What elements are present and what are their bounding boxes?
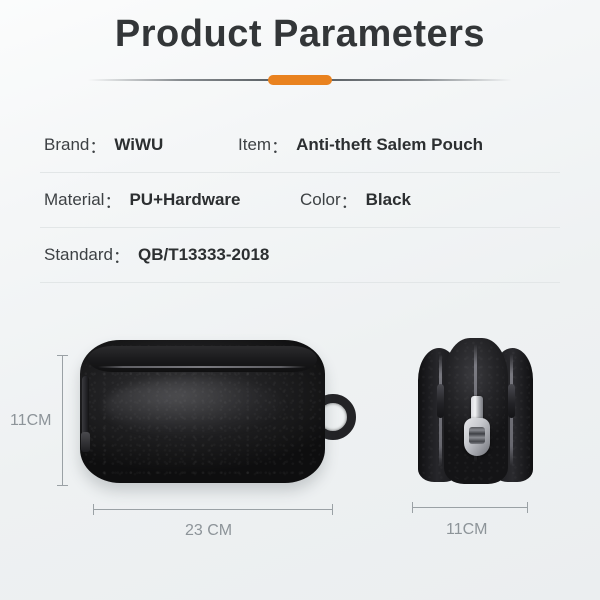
product-parameters-page: Product Parameters Brand ： WiWU Item ： A…: [0, 0, 600, 600]
spec-colon-material: ：: [104, 188, 122, 213]
pouch-zipper-line: [98, 366, 306, 368]
spec-value-material: PU+Hardware: [129, 190, 240, 210]
product-showcase: [0, 300, 600, 600]
page-header: Product Parameters: [0, 0, 600, 104]
pouch-top-zip-band: [88, 346, 317, 372]
spec-colon-item: ：: [271, 133, 289, 158]
spec-colon-standard: ：: [113, 243, 131, 268]
dimension-label-height-left: 11CM: [10, 412, 52, 430]
leather-highlight: [104, 378, 284, 434]
zipper-pull-right: [508, 384, 515, 418]
dimension-cap-left-width-right: [412, 502, 413, 513]
spec-value-brand: WiWU: [114, 135, 163, 155]
spec-cell-item: Item ： Anti-theft Salem Pouch: [238, 118, 483, 172]
zipper-pull-left: [437, 384, 444, 418]
dimension-line-width-left: [93, 509, 333, 510]
lock-body: [464, 418, 490, 456]
dimension-cap-bottom-left: [57, 485, 68, 486]
dimension-cap-left-width-left: [93, 504, 94, 515]
dimension-line-width-right: [412, 507, 528, 508]
spec-value-standard: QB/T13333-2018: [138, 245, 269, 265]
pouch-side-view: [418, 336, 533, 486]
spec-colon-color: ：: [341, 188, 359, 213]
spec-cell-material: Material ： PU+Hardware: [44, 173, 241, 227]
spec-cell-brand: Brand ： WiWU: [44, 118, 163, 172]
spec-row-standard: Standard ： QB/T13333-2018: [40, 228, 560, 283]
spec-label-standard: Standard: [44, 245, 113, 265]
spec-colon-brand: ：: [89, 133, 107, 158]
spec-row-material-color: Material ： PU+Hardware Color ： Black: [40, 173, 560, 228]
dimension-cap-top-left: [57, 355, 68, 356]
title-accent-pill: [268, 75, 332, 85]
spec-label-brand: Brand: [44, 135, 89, 155]
spec-row-brand-item: Brand ： WiWU Item ： Anti-theft Salem Pou…: [40, 118, 560, 173]
spec-label-color: Color: [300, 190, 341, 210]
dimension-label-width-right: 11CM: [446, 521, 488, 539]
pouch-front-view: [80, 340, 355, 485]
dimension-label-width-left: 23 CM: [185, 522, 232, 540]
dimension-line-height-left: [62, 355, 63, 485]
spec-value-item: Anti-theft Salem Pouch: [296, 135, 483, 155]
spec-table: Brand ： WiWU Item ： Anti-theft Salem Pou…: [40, 118, 560, 283]
dimension-cap-right-width-left: [332, 504, 333, 515]
spec-label-material: Material: [44, 190, 104, 210]
page-title: Product Parameters: [0, 8, 600, 60]
lock-dial: [469, 427, 485, 444]
spec-cell-color: Color ： Black: [300, 173, 411, 227]
spec-label-item: Item: [238, 135, 271, 155]
combination-lock-icon: [464, 396, 490, 456]
zipper-pull-tab: [81, 432, 90, 452]
pouch-front-body: [80, 340, 325, 483]
spec-value-color: Black: [366, 190, 411, 210]
spec-cell-standard: Standard ： QB/T13333-2018: [44, 228, 269, 282]
dimension-cap-right-width-right: [527, 502, 528, 513]
